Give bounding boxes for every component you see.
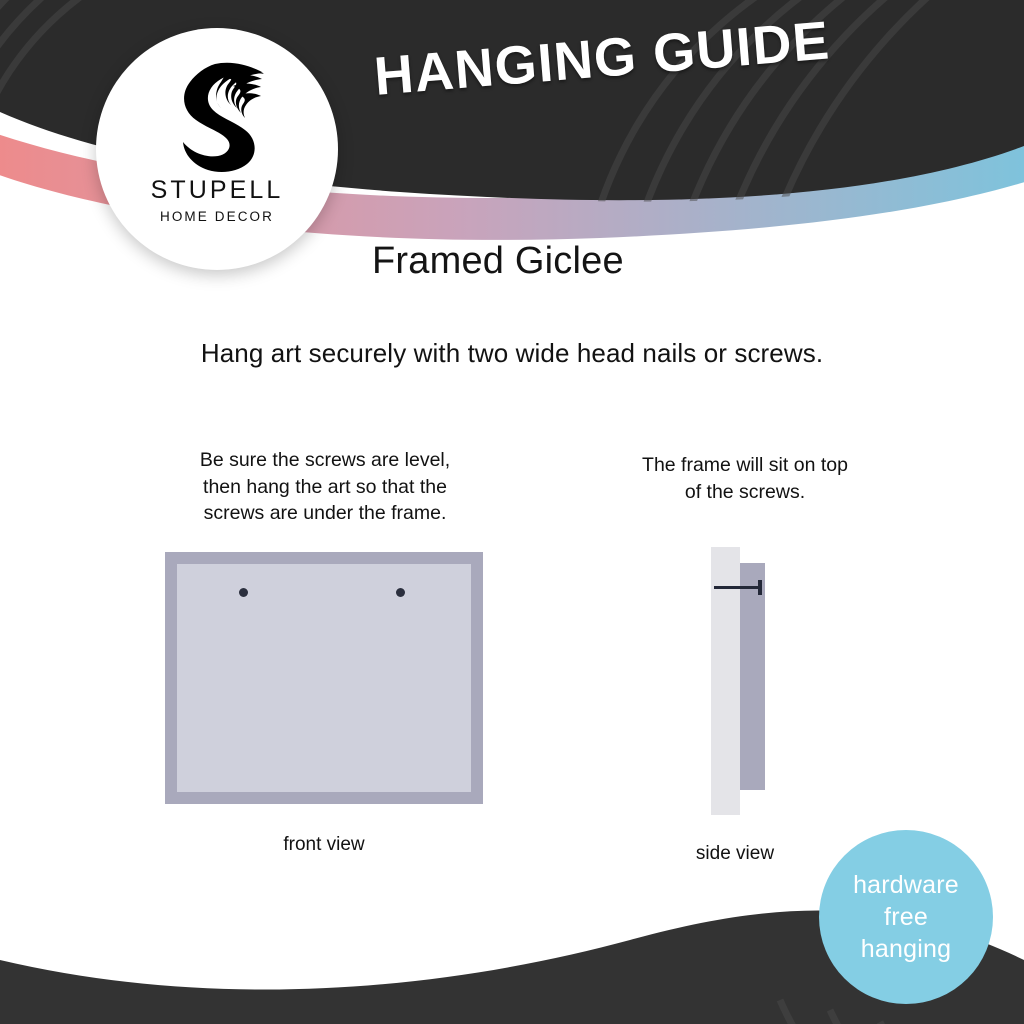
- front-view-art-panel: [177, 564, 471, 792]
- nail-head-icon: [758, 580, 762, 595]
- badge-line: hardware: [853, 869, 959, 901]
- brand-logo-badge: STUPELL HOME DECOR: [96, 28, 338, 270]
- nail-shaft-icon: [714, 586, 760, 589]
- side-view-caption: The frame will sit on top of the screws.: [598, 452, 892, 505]
- caption-line: of the screws.: [598, 479, 892, 506]
- caption-line: screws are under the frame.: [160, 500, 490, 527]
- front-view-diagram: [165, 552, 483, 804]
- badge-line: hanging: [861, 933, 951, 965]
- logo-brand-name: STUPELL: [151, 178, 284, 203]
- screw-dot-right: [396, 588, 405, 597]
- badge-line: free: [884, 901, 928, 933]
- side-view-frame: [740, 563, 765, 790]
- screw-dot-left: [239, 588, 248, 597]
- hanging-guide-infographic: STUPELL HOME DECOR HANGING GUIDE Framed …: [0, 0, 1024, 1024]
- caption-line: The frame will sit on top: [598, 452, 892, 479]
- lead-instruction: Hang art securely with two wide head nai…: [0, 338, 1024, 369]
- hardware-free-hanging-badge: hardware free hanging: [819, 830, 993, 1004]
- front-view-caption: Be sure the screws are level, then hang …: [160, 447, 490, 527]
- caption-line: then hang the art so that the: [160, 474, 490, 501]
- front-view-label: front view: [165, 834, 483, 856]
- caption-line: Be sure the screws are level,: [160, 447, 490, 474]
- swoosh-s-icon: [163, 58, 271, 174]
- side-view-diagram: [705, 540, 785, 825]
- product-type-title: Framed Giclee: [372, 240, 624, 283]
- side-view-label: side view: [640, 843, 830, 865]
- logo-brand-tagline: HOME DECOR: [160, 210, 274, 224]
